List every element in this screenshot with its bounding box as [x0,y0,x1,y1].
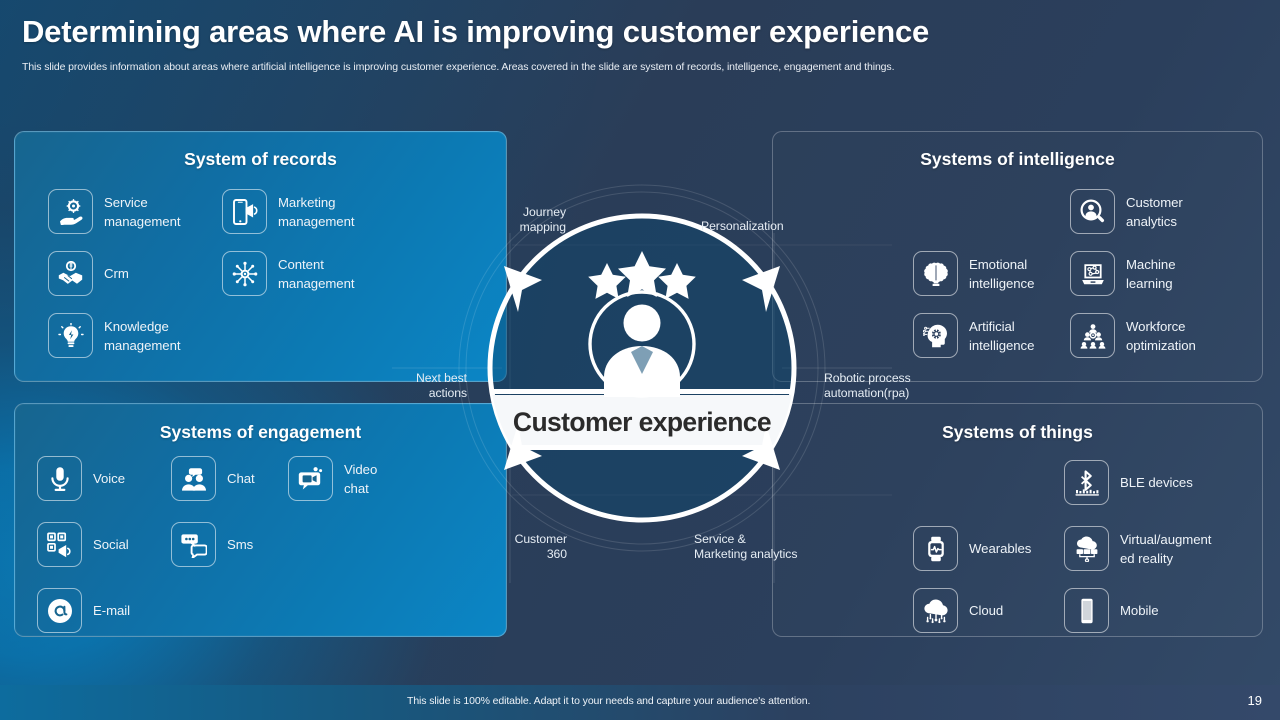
page-subtitle: This slide provides information about ar… [22,60,1262,74]
item-email[interactable]: E-mail [37,588,130,633]
item-label: Workforceoptimization [1126,317,1230,355]
orbit-label-journey-mapping: Journeymapping [506,205,566,235]
item-social[interactable]: Social [37,522,129,567]
item-content-management[interactable]: Contentmanagement [222,251,364,296]
service-management-icon [48,189,93,234]
item-label: Virtual/augmented reality [1120,530,1230,568]
customer-experience-diagram: Customer experience [392,183,892,583]
item-workforce-optimization[interactable]: Workforceoptimization [1070,313,1230,358]
page-title: Determining areas where AI is improving … [22,10,1262,54]
virtual-reality-icon [1064,526,1109,571]
emotional-intelligence-brain-icon [913,251,958,296]
item-chat[interactable]: Chat [171,456,255,501]
knowledge-management-icon [48,313,93,358]
sms-bubbles-icon [171,522,216,567]
cloud-icon [913,588,958,633]
marketing-management-icon [222,189,267,234]
item-label: BLE devices [1120,473,1193,492]
item-label: Artificialintelligence [969,317,1073,355]
panel-title-intelligence: Systems of intelligence [773,149,1262,170]
item-label: Contentmanagement [278,255,364,293]
item-label: Emotionalintelligence [969,255,1073,293]
orbit-label-personalization: Personalization [701,219,811,234]
footer-note: This slide is 100% editable. Adapt it to… [407,695,810,707]
item-ble-devices[interactable]: BLE devices [1064,460,1193,505]
video-chat-icon [288,456,333,501]
item-marketing-management[interactable]: Marketingmanagement [222,189,364,234]
item-label: Wearables [969,539,1031,558]
item-emotional-intelligence[interactable]: Emotionalintelligence [913,251,1073,296]
item-customer-analytics[interactable]: Customeranalytics [1070,189,1212,234]
orbit-label-service-marketing-analytics: Service &Marketing analytics [694,532,832,562]
email-at-icon [37,588,82,633]
workforce-optimization-icon [1070,313,1115,358]
item-label: Chat [227,469,255,488]
orbit-label-customer-360: Customer360 [495,532,567,562]
item-label: Knowledgemanagement [104,317,208,355]
item-virtual-augmented-reality[interactable]: Virtual/augmented reality [1064,526,1230,571]
slide-footer: This slide is 100% editable. Adapt it to… [0,685,1280,720]
item-mobile[interactable]: Mobile [1064,588,1159,633]
machine-learning-icon [1070,251,1115,296]
ble-devices-icon [1064,460,1109,505]
microphone-icon [37,456,82,501]
artificial-intelligence-head-icon [913,313,958,358]
social-megaphone-icon [37,522,82,567]
item-cloud[interactable]: Cloud [913,588,1003,633]
item-label: Mobile [1120,601,1159,620]
item-sms[interactable]: Sms [171,522,253,567]
item-wearables[interactable]: Wearables [913,526,1031,571]
item-knowledge-management[interactable]: Knowledgemanagement [48,313,208,358]
item-label: Machinelearning [1126,255,1212,293]
item-label: Sms [227,535,253,554]
item-service-management[interactable]: Servicemanagement [48,189,190,234]
item-label: Crm [104,264,129,283]
orbit-label-robotic-process-automation: Robotic processautomation(rpa) [824,371,934,401]
slide-header: Determining areas where AI is improving … [22,10,1262,74]
panel-title-records: System of records [15,149,506,170]
wearable-watch-icon [913,526,958,571]
item-crm[interactable]: Crm [48,251,129,296]
item-label: Customeranalytics [1126,193,1212,231]
item-label: Social [93,535,129,554]
mobile-phone-icon [1064,588,1109,633]
item-artificial-intelligence[interactable]: Artificialintelligence [913,313,1073,358]
orbit-label-next-best-actions: Next bestactions [395,371,467,401]
chat-people-icon [171,456,216,501]
item-voice[interactable]: Voice [37,456,125,501]
item-label: E-mail [93,601,130,620]
item-label: Cloud [969,601,1003,620]
item-machine-learning[interactable]: Machinelearning [1070,251,1212,296]
content-management-icon [222,251,267,296]
item-label: Marketingmanagement [278,193,364,231]
banner-label: Customer experience [513,407,771,437]
item-label: Voice [93,469,125,488]
customer-analytics-icon [1070,189,1115,234]
crm-handshake-icon [48,251,93,296]
page-number: 19 [1248,693,1262,708]
item-label: Servicemanagement [104,193,190,231]
